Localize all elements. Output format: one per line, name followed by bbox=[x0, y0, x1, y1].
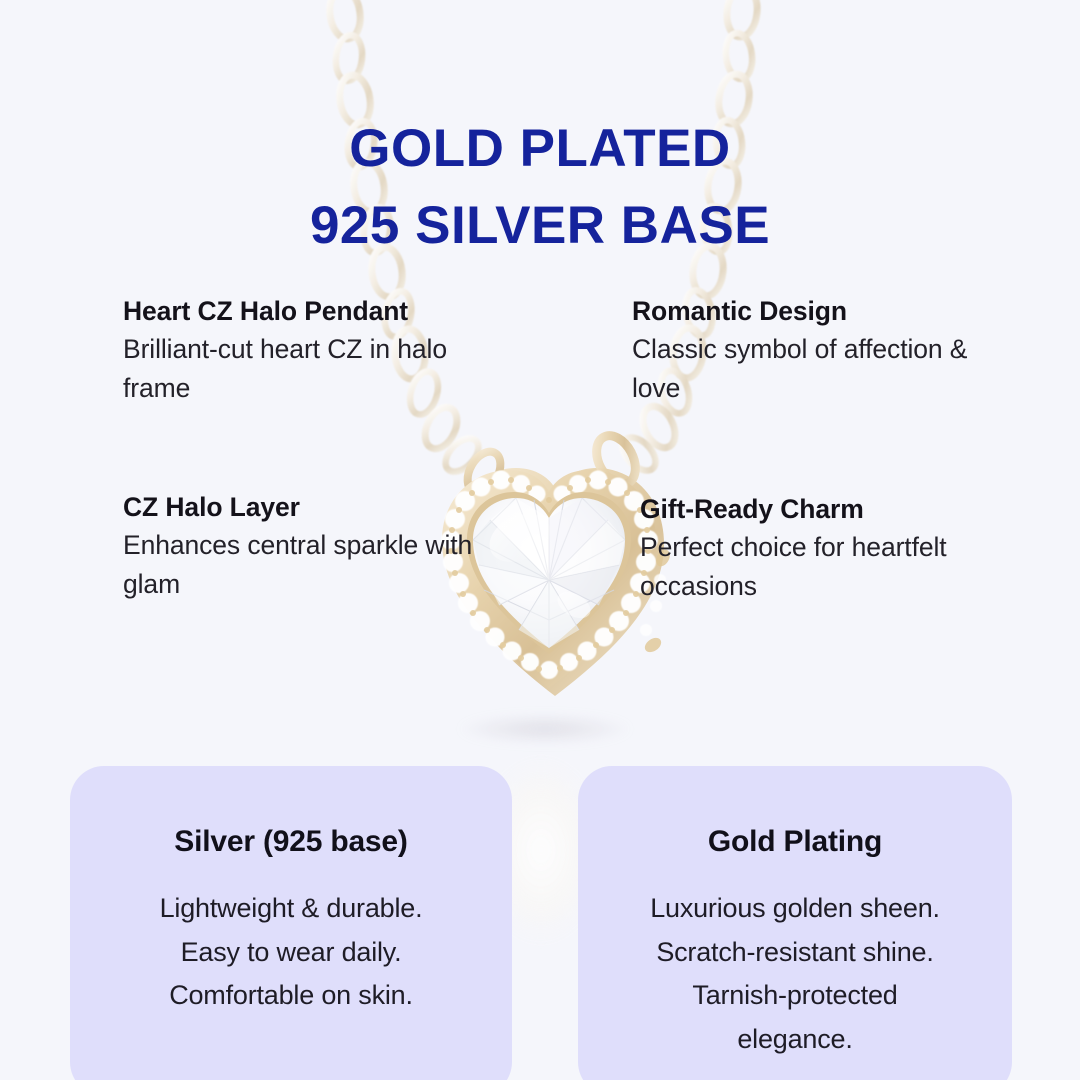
card-body: Luxurious golden sheen. Scratch-resistan… bbox=[604, 887, 986, 1062]
card-body-line: elegance. bbox=[604, 1018, 986, 1062]
card-body-line: Lightweight & durable. bbox=[96, 887, 486, 931]
card-body-line: Comfortable on skin. bbox=[96, 974, 486, 1018]
card-title: Silver (925 base) bbox=[96, 822, 486, 861]
card-title: Gold Plating bbox=[604, 822, 986, 861]
card-body-line: Scratch-resistant shine. bbox=[604, 931, 986, 975]
card-body-line: Luxurious golden sheen. bbox=[604, 887, 986, 931]
card-body-line: Easy to wear daily. bbox=[96, 931, 486, 975]
card-body: Lightweight & durable. Easy to wear dail… bbox=[96, 887, 486, 1018]
card-body-line: Tarnish-protected bbox=[604, 974, 986, 1018]
card-gold-plating: Gold Plating Luxurious golden sheen. Scr… bbox=[578, 766, 1012, 1080]
infographic-canvas: GOLD PLATED 925 SILVER BASE Heart CZ Hal… bbox=[0, 0, 1080, 1080]
card-silver-925-base: Silver (925 base) Lightweight & durable.… bbox=[70, 766, 512, 1080]
material-cards: Silver (925 base) Lightweight & durable.… bbox=[0, 0, 1080, 1080]
